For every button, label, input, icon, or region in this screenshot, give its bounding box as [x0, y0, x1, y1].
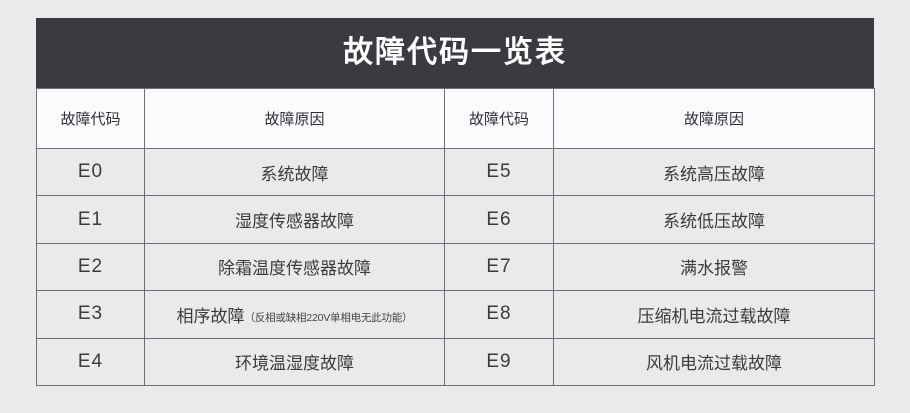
fault-code-left: E2	[37, 243, 145, 290]
fault-reason-left-main: 湿度传感器故障	[235, 212, 354, 231]
fault-code-left: E4	[37, 338, 145, 385]
fault-reason-left: 系统故障	[145, 149, 445, 196]
fault-code-right: E9	[445, 338, 554, 385]
column-header-code-left: 故障代码	[37, 89, 145, 149]
title-banner: 故障代码一览表	[36, 18, 874, 88]
column-header-reason-left: 故障原因	[145, 89, 445, 149]
column-header-reason-right: 故障原因	[554, 89, 875, 149]
table-row: E2 除霜温度传感器故障 E7 满水报警	[37, 243, 875, 290]
fault-reason-left: 除霜温度传感器故障	[145, 243, 445, 290]
fault-reason-right: 系统低压故障	[554, 196, 875, 243]
fault-code-right: E8	[445, 291, 554, 338]
fault-code-table-page: 故障代码一览表 故障代码 故障原因 故障代码 故障原因 E0 系统故障 E5	[0, 0, 910, 413]
fault-code-right: E5	[445, 149, 554, 196]
fault-reason-right: 压缩机电流过载故障	[554, 291, 875, 338]
table-row: E0 系统故障 E5 系统高压故障	[37, 149, 875, 196]
header-row: 故障代码 故障原因 故障代码 故障原因	[37, 89, 875, 149]
fault-reason-left: 相序故障（反相或缺相220V单相电无此功能）	[145, 291, 445, 338]
fault-code-left: E0	[37, 149, 145, 196]
table-header: 故障代码 故障原因 故障代码 故障原因	[37, 89, 875, 149]
table-body: E0 系统故障 E5 系统高压故障 E1 湿度传感器故障 E6 系统低压故障 E…	[37, 149, 875, 386]
fault-reason-left-main: 除霜温度传感器故障	[218, 259, 371, 278]
table-row: E4 环境温湿度故障 E9 风机电流过载故障	[37, 338, 875, 385]
fault-code-left: E3	[37, 291, 145, 338]
fault-reason-left-note: （反相或缺相220V单相电无此功能）	[245, 312, 413, 324]
page-title: 故障代码一览表	[343, 38, 567, 68]
fault-reason-left: 湿度传感器故障	[145, 196, 445, 243]
fault-reason-left: 环境温湿度故障	[145, 338, 445, 385]
fault-reason-left-main: 环境温湿度故障	[235, 354, 354, 373]
fault-code-table: 故障代码 故障原因 故障代码 故障原因 E0 系统故障 E5 系统高压故障 E1…	[36, 88, 875, 386]
fault-reason-right: 系统高压故障	[554, 149, 875, 196]
fault-reason-left-main: 相序故障	[177, 307, 245, 326]
fault-code-left: E1	[37, 196, 145, 243]
table-row: E1 湿度传感器故障 E6 系统低压故障	[37, 196, 875, 243]
fault-code-right: E6	[445, 196, 554, 243]
fault-code-right: E7	[445, 243, 554, 290]
fault-reason-right: 风机电流过载故障	[554, 338, 875, 385]
fault-reason-right: 满水报警	[554, 243, 875, 290]
table-row: E3 相序故障（反相或缺相220V单相电无此功能） E8 压缩机电流过载故障	[37, 291, 875, 338]
column-header-code-right: 故障代码	[445, 89, 554, 149]
fault-reason-left-main: 系统故障	[261, 165, 329, 184]
